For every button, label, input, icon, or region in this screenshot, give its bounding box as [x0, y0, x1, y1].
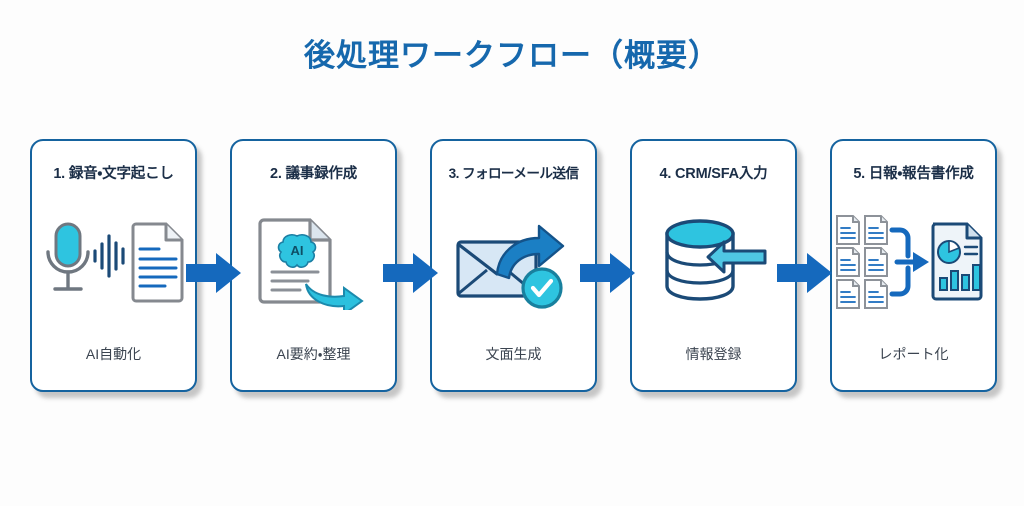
workflow-diagram: 1. 録音・文字起こし [30, 139, 998, 394]
gap-4 [797, 139, 830, 140]
page-title: 後処理ワークフロー（概要） [0, 30, 1024, 75]
step-card-3[interactable]: 3. フォローメール送信 文面生成 [430, 139, 597, 392]
database-import-arrow-icon [632, 179, 795, 344]
ai-brain-document-arrow-icon: AI [232, 179, 395, 344]
documents-to-report-chart-icon [832, 179, 995, 344]
step-card-1[interactable]: 1. 録音・文字起こし [30, 139, 197, 392]
step-footer-1: AI自動化 [86, 344, 141, 364]
step-card-2[interactable]: 2. 議事録作成 AI AI要約・整理 [230, 139, 397, 392]
step-footer-2: AI要約・整理 [277, 344, 351, 364]
step-footer-5: レポート化 [879, 344, 949, 364]
microphone-waveform-document-icon [32, 179, 195, 344]
envelope-send-check-icon [432, 178, 595, 344]
svg-text:AI: AI [290, 243, 303, 258]
step-footer-3: 文面生成 [486, 344, 542, 364]
step-footer-4: 情報登録 [686, 344, 742, 364]
gap-3 [597, 139, 630, 140]
step-card-4[interactable]: 4. CRM/SFA入力 情報登録 [630, 139, 797, 392]
step-card-5[interactable]: 5. 日報・報告書作成 [830, 139, 997, 392]
gap-1 [197, 139, 230, 140]
gap-2 [397, 139, 430, 140]
